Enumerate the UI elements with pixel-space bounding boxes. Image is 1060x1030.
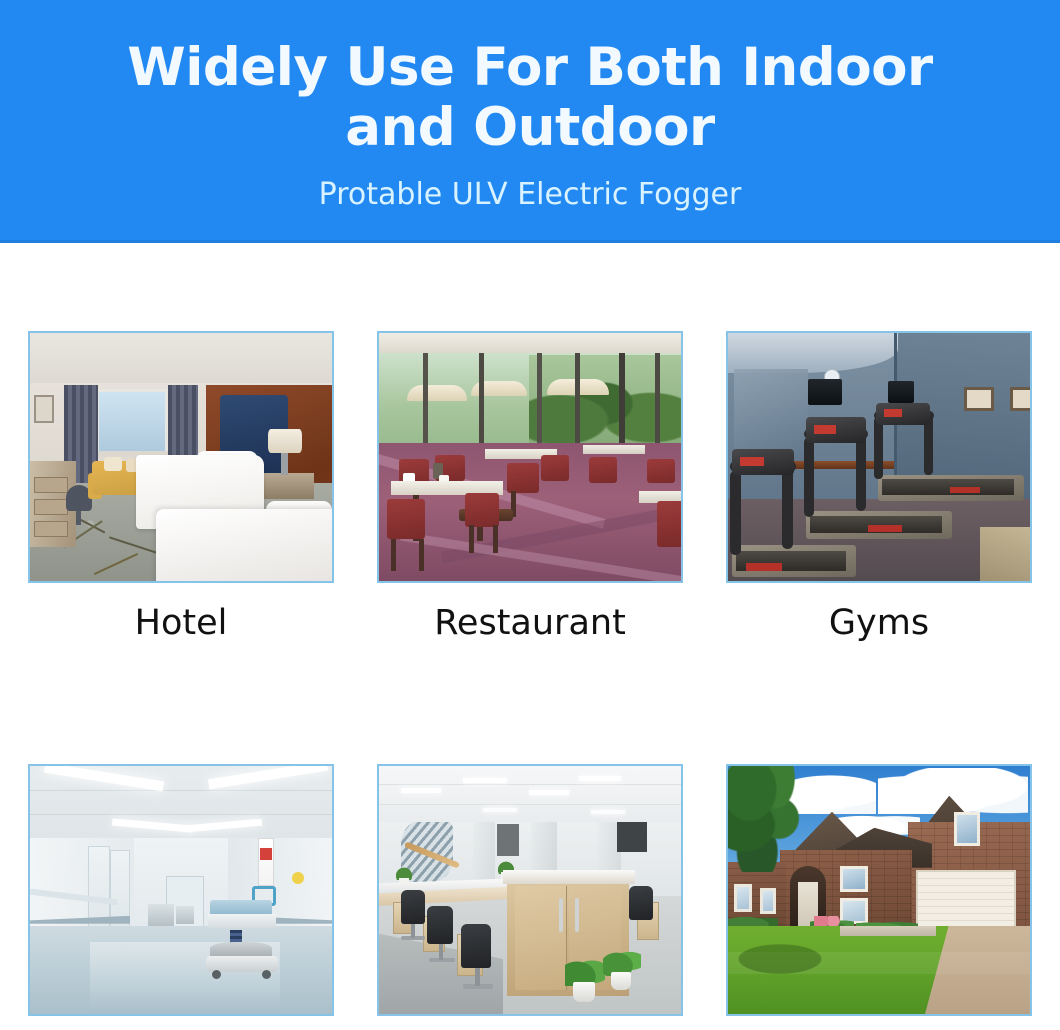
banner-title: Widely Use For Both Indoor and Outdoor bbox=[0, 38, 1060, 159]
hotel-room-illustration bbox=[30, 333, 332, 581]
house-front-lawn-illustration bbox=[728, 766, 1030, 1014]
use-case-card-garden[interactable]: Garden bbox=[726, 764, 1032, 1030]
use-case-card-hotel[interactable]: Hotel bbox=[28, 331, 334, 642]
banner-subtitle: Protable ULV Electric Fogger bbox=[0, 177, 1060, 212]
office-illustration bbox=[379, 766, 681, 1014]
use-case-card-hospital[interactable]: Hospital bbox=[28, 764, 334, 1030]
hospital-photo bbox=[28, 764, 334, 1016]
office-photo bbox=[377, 764, 683, 1016]
card-caption: Gyms bbox=[726, 605, 1032, 642]
hotel-photo bbox=[28, 331, 334, 583]
card-caption: Hotel bbox=[28, 605, 334, 642]
use-case-card-restaurant[interactable]: Restaurant bbox=[377, 331, 683, 642]
restaurant-photo bbox=[377, 331, 683, 583]
grid-row-2: Hospital bbox=[28, 764, 1032, 1030]
use-case-card-office[interactable]: Office bbox=[377, 764, 683, 1030]
gym-photo bbox=[726, 331, 1032, 583]
grid-row-1: Hotel bbox=[28, 331, 1032, 642]
hospital-corridor-illustration bbox=[30, 766, 332, 1014]
product-infographic: Widely Use For Both Indoor and Outdoor P… bbox=[0, 0, 1060, 1030]
garden-photo bbox=[726, 764, 1032, 1016]
use-case-card-gyms[interactable]: Gyms bbox=[726, 331, 1032, 642]
card-caption: Restaurant bbox=[377, 605, 683, 642]
gym-illustration bbox=[728, 333, 1030, 581]
restaurant-illustration bbox=[379, 333, 681, 581]
use-case-grid: Hotel bbox=[28, 331, 1032, 1030]
header-banner: Widely Use For Both Indoor and Outdoor P… bbox=[0, 0, 1060, 243]
